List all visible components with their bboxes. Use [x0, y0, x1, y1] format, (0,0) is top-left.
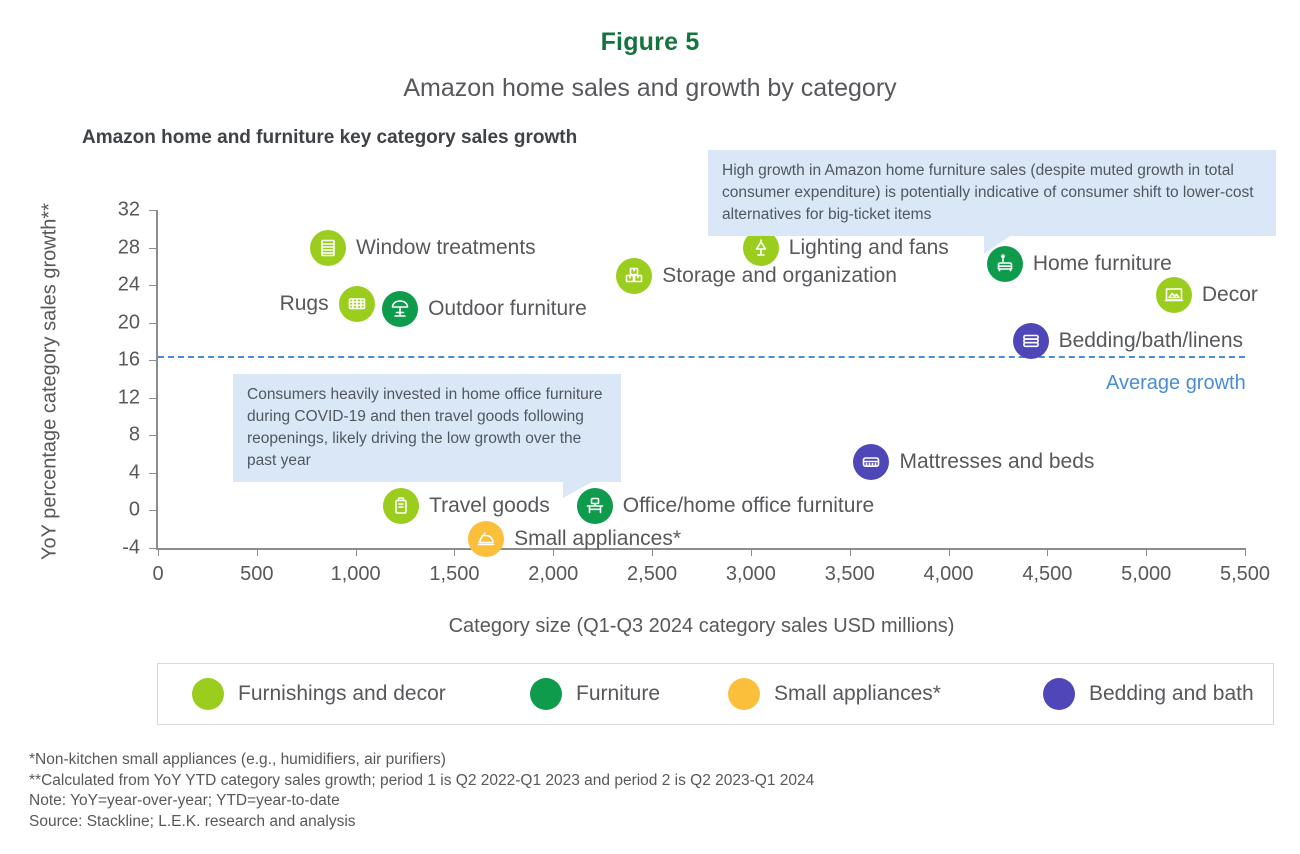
x-tick-label: 2,500 [627, 563, 677, 586]
x-axis-title: Category size (Q1-Q3 2024 category sales… [158, 615, 1245, 638]
legend-label: Small appliances* [774, 682, 941, 706]
legend-swatch [530, 678, 562, 710]
y-tick-label: 24 [0, 274, 140, 297]
x-tick [1146, 548, 1147, 556]
y-tick [149, 435, 157, 436]
y-tick-label: 4 [0, 461, 140, 484]
y-tick-label: 0 [0, 499, 140, 522]
legend-item-small-appliances[interactable]: Small appliances* [728, 678, 941, 710]
x-tick [158, 548, 159, 556]
x-tick-label: 5,500 [1220, 563, 1270, 586]
data-point-label: Outdoor furniture [428, 297, 587, 321]
y-tick-label: 16 [0, 349, 140, 372]
linens-icon [1013, 323, 1049, 359]
data-point-storage-and-organization[interactable]: Storage and organization [616, 258, 897, 294]
picture-icon [1156, 277, 1192, 313]
y-tick-label: 8 [0, 424, 140, 447]
x-tick [257, 548, 258, 556]
data-point-decor[interactable]: Decor [1156, 277, 1258, 313]
data-point-outdoor-furniture[interactable]: Outdoor furniture [382, 291, 587, 327]
x-tick-label: 4,500 [1022, 563, 1072, 586]
y-axis-line [156, 210, 158, 550]
data-point-small-appliances[interactable]: Small appliances* [468, 521, 681, 557]
legend-label: Furnishings and decor [238, 682, 446, 706]
data-point-label: Travel goods [429, 494, 550, 518]
y-tick [149, 248, 157, 249]
y-tick-label: -4 [0, 537, 140, 560]
x-tick [454, 548, 455, 556]
parasol-icon [382, 291, 418, 327]
y-tick [149, 360, 157, 361]
x-tick [356, 548, 357, 556]
y-tick [149, 210, 157, 211]
data-point-travel-goods[interactable]: Travel goods [383, 488, 550, 524]
data-point-mattresses-and-beds[interactable]: Mattresses and beds [853, 444, 1094, 480]
data-point-home-furniture[interactable]: Home furniture [987, 246, 1172, 282]
legend-label: Bedding and bath [1089, 682, 1254, 706]
figure-title: Amazon home sales and growth by category [0, 74, 1300, 103]
x-tick-label: 500 [240, 563, 273, 586]
suitcase-icon [383, 488, 419, 524]
y-tick [149, 548, 157, 549]
x-tick-label: 5,000 [1121, 563, 1171, 586]
legend: Furnishings and decorFurnitureSmall appl… [157, 663, 1274, 725]
data-point-label: Small appliances* [514, 527, 681, 551]
data-point-bedding-bath-linens[interactable]: Bedding/bath/linens [1013, 323, 1243, 359]
data-point-label: Window treatments [356, 236, 536, 260]
legend-item-furniture[interactable]: Furniture [530, 678, 660, 710]
x-tick-label: 1,500 [429, 563, 479, 586]
y-axis-title: YoY percentage category sales growth** [39, 172, 62, 592]
legend-item-furnishings-and-decor[interactable]: Furnishings and decor [192, 678, 446, 710]
data-point-rugs[interactable]: Rugs [280, 286, 375, 322]
mattress-icon [853, 444, 889, 480]
y-tick [149, 285, 157, 286]
legend-swatch [728, 678, 760, 710]
x-tick [949, 548, 950, 556]
x-tick [751, 548, 752, 556]
iron-icon [468, 521, 504, 557]
data-point-window-treatments[interactable]: Window treatments [310, 230, 536, 266]
chart-heading: Amazon home and furniture key category s… [82, 127, 577, 149]
home-furniture-callout: High growth in Amazon home furniture sal… [708, 150, 1276, 236]
figure-number: Figure 5 [0, 28, 1300, 57]
data-point-office-home-office-furniture[interactable]: Office/home office furniture [577, 488, 874, 524]
data-point-label: Bedding/bath/linens [1059, 329, 1243, 353]
footnotes: *Non-kitchen small appliances (e.g., hum… [29, 750, 814, 832]
data-point-label: Storage and organization [662, 264, 897, 288]
x-axis-line [158, 548, 1245, 550]
x-tick-label: 0 [152, 563, 163, 586]
data-point-label: Rugs [280, 292, 329, 316]
blinds-icon [310, 230, 346, 266]
legend-item-bedding-and-bath[interactable]: Bedding and bath [1043, 678, 1254, 710]
x-tick-label: 3,500 [825, 563, 875, 586]
footnote-line: **Calculated from YoY YTD category sales… [29, 771, 814, 792]
x-tick-label: 2,000 [528, 563, 578, 586]
y-tick-label: 32 [0, 199, 140, 222]
x-tick-label: 1,000 [331, 563, 381, 586]
y-tick-label: 20 [0, 311, 140, 334]
data-point-label: Home furniture [1033, 252, 1172, 276]
legend-label: Furniture [576, 682, 660, 706]
x-tick [1047, 548, 1048, 556]
footnote-line: *Non-kitchen small appliances (e.g., hum… [29, 750, 814, 771]
legend-swatch [1043, 678, 1075, 710]
y-tick [149, 510, 157, 511]
y-tick [149, 323, 157, 324]
y-tick [149, 473, 157, 474]
rug-icon [339, 286, 375, 322]
data-point-label: Mattresses and beds [899, 450, 1094, 474]
y-tick-label: 28 [0, 236, 140, 259]
x-tick [1245, 548, 1246, 556]
footnote-line: Source: Stackline; L.E.K. research and a… [29, 812, 814, 833]
y-tick-label: 12 [0, 386, 140, 409]
footnote-line: Note: YoY=year-over-year; YTD=year-to-da… [29, 791, 814, 812]
x-tick [850, 548, 851, 556]
boxes-icon [616, 258, 652, 294]
callout-tail-icon [984, 236, 1010, 254]
y-tick [149, 398, 157, 399]
callout-tail-icon [563, 466, 621, 498]
data-point-label: Lighting and fans [789, 236, 949, 260]
data-point-label: Decor [1202, 283, 1258, 307]
legend-swatch [192, 678, 224, 710]
x-tick-label: 4,000 [924, 563, 974, 586]
data-point-label: Office/home office furniture [623, 494, 874, 518]
x-tick-label: 3,000 [726, 563, 776, 586]
average-growth-label: Average growth [1106, 372, 1246, 395]
